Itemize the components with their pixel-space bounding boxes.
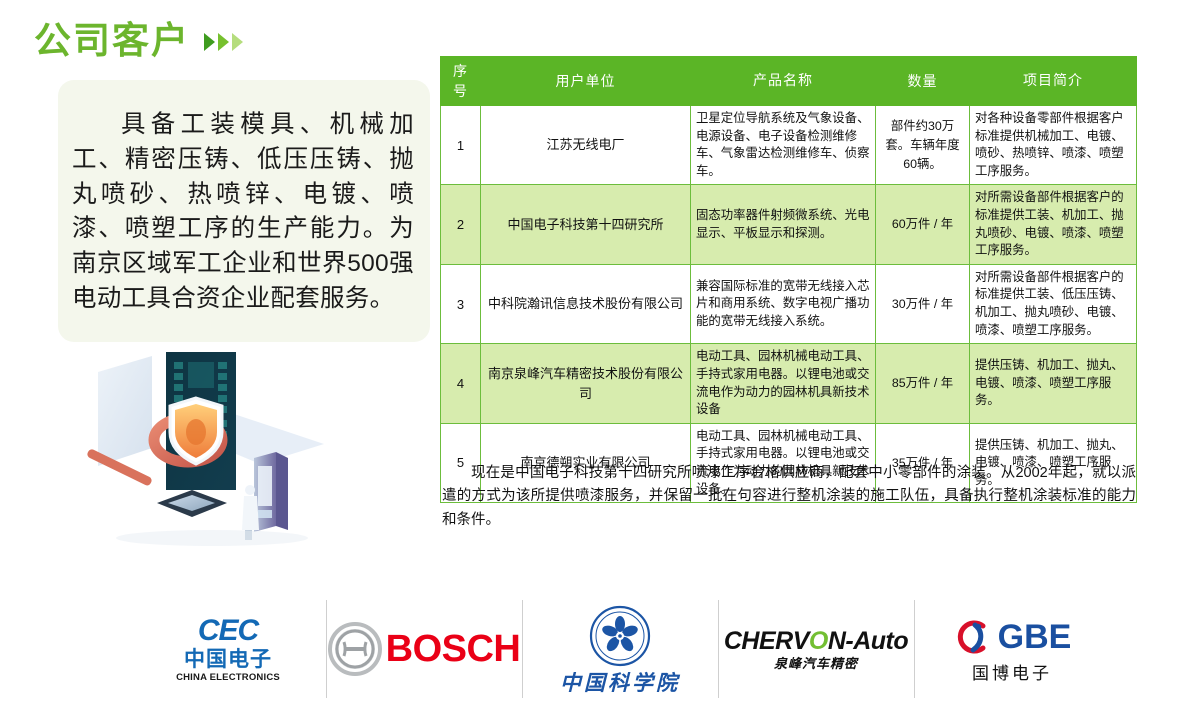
table-row: 3 中科院瀚讯信息技术股份有限公司 兼容国际标准的宽带无线接入芯片和商用系统、数…: [441, 264, 1137, 343]
cec-english-name: CHINA ELECTRONICS: [176, 673, 280, 683]
isometric-security-illustration: [62, 340, 362, 550]
illustration-svg: [62, 340, 362, 550]
partner-logo-strip: CEC 中国电子 CHINA ELECTRONICS BOSCH: [130, 596, 1110, 702]
gbe-swoosh-icon: [953, 617, 993, 657]
cell-no: 1: [441, 106, 481, 185]
title-arrow-group: [204, 33, 243, 51]
logo-gbe: GBE 国博电子: [914, 596, 1110, 702]
cec-chinese-name: 中国电子: [184, 649, 272, 670]
table-header: 序号 用户单位 产品名称 数量 项目简介: [441, 57, 1137, 106]
cell-product: 卫星定位导航系统及气象设备、电源设备、电子设备检测维修车、气象雷达检测维修车、侦…: [691, 106, 876, 185]
page-title-block: 公司客户: [34, 22, 243, 59]
bosch-wordmark: BOSCH: [386, 628, 521, 671]
column-header-unit: 用户单位: [481, 57, 691, 106]
ground-shadow: [116, 530, 308, 546]
cell-qty: 85万件 / 年: [876, 344, 970, 423]
footer-note: 现在是中国电子科技第十四研究所喷漆工序合格供应商，配套中小零部件的涂装。从200…: [442, 462, 1136, 532]
intro-card-text: 具备工装模具、机械加工、精密压铸、低压压铸、抛丸喷砂、热喷锌、电镀、喷漆、喷塑工…: [58, 80, 430, 317]
cell-qty: 60万件 / 年: [876, 185, 970, 264]
cell-unit: 南京泉峰汽车精密技术股份有限公司: [481, 344, 691, 423]
chervon-wordmark-part2: N-Auto: [828, 629, 908, 654]
logo-chervon: CHERVON-Auto 泉峰汽车精密: [718, 596, 914, 702]
table-row: 1 江苏无线电厂 卫星定位导航系统及气象设备、电源设备、电子设备检测维修车、气象…: [441, 106, 1137, 185]
cell-desc: 提供压铸、机加工、抛丸、电镀、喷漆、喷塑工序服务。: [970, 344, 1137, 423]
cell-product: 固态功率器件射频微系统、光电显示、平板显示和探测。: [691, 185, 876, 264]
table-body: 1 江苏无线电厂 卫星定位导航系统及气象设备、电源设备、电子设备检测维修车、气象…: [441, 106, 1137, 503]
column-header-product: 产品名称: [691, 57, 876, 106]
table-row: 2 中国电子科技第十四研究所 固态功率器件射频微系统、光电显示、平板显示和探测。…: [441, 185, 1137, 264]
column-header-desc: 项目简介: [970, 57, 1137, 106]
column-header-qty: 数量: [876, 57, 970, 106]
logo-cec: CEC 中国电子 CHINA ELECTRONICS: [130, 596, 326, 702]
triangle-arrow-icon: [232, 33, 243, 51]
cell-product: 兼容国际标准的宽带无线接入芯片和商用系统、数字电视广播功能的宽带无线接入系统。: [691, 264, 876, 343]
logo-bosch: BOSCH: [326, 596, 522, 702]
intro-card: 具备工装模具、机械加工、精密压铸、低压压铸、抛丸喷砂、热喷锌、电镀、喷漆、喷塑工…: [58, 80, 430, 342]
backdrop-panel-left: [98, 356, 152, 466]
cell-unit: 中国电子科技第十四研究所: [481, 185, 691, 264]
gbe-wordmark: GBE: [998, 620, 1072, 654]
triangle-arrow-icon: [218, 33, 229, 51]
cell-desc: 对所需设备部件根据客户的标准提供工装、机加工、抛丸喷砂、电镀、喷漆、喷塑工序服务…: [970, 185, 1137, 264]
chervon-wordmark-part1: CHERV: [724, 629, 809, 654]
cell-qty: 部件约30万套。车辆年度60辆。: [876, 106, 970, 185]
column-header-no: 序号: [441, 57, 481, 106]
page-title: 公司客户: [34, 22, 190, 59]
cell-unit: 江苏无线电厂: [481, 106, 691, 185]
client-table: 序号 用户单位 产品名称 数量 项目简介 1 江苏无线电厂 卫星定位导航系统及气…: [440, 56, 1137, 503]
cas-chinese-name: 中国科学院: [560, 673, 680, 694]
cell-no: 3: [441, 264, 481, 343]
logo-cas: 中国科学院: [522, 596, 718, 702]
cell-desc: 对各种设备零部件根据客户标准提供机械加工、电镀、喷砂、热喷锌、喷漆、喷塑工序服务…: [970, 106, 1137, 185]
chervon-o-letter: O: [809, 629, 828, 654]
table-row: 4 南京泉峰汽车精密技术股份有限公司 电动工具、园林机械电动工具、手持式家用电器…: [441, 344, 1137, 423]
triangle-arrow-icon: [204, 33, 215, 51]
cell-unit: 中科院瀚讯信息技术股份有限公司: [481, 264, 691, 343]
cell-no: 4: [441, 344, 481, 423]
cell-no: 2: [441, 185, 481, 264]
cas-emblem-icon: [589, 605, 651, 667]
cpu-chip-icon: [157, 490, 227, 517]
gbe-chinese-name: 国博电子: [972, 665, 1052, 682]
cec-wordmark: CEC: [198, 616, 258, 646]
chervon-wordmark: CHERVON-Auto: [724, 629, 908, 654]
server-rack-icon: [254, 452, 288, 532]
table-header-row: 序号 用户单位 产品名称 数量 项目简介: [441, 57, 1137, 106]
bosch-emblem-icon: [328, 622, 382, 676]
slide-root: 公司客户 具备工装模具、机械加工、精密压铸、低压压铸、抛丸喷砂、热喷锌、电镀、喷…: [0, 0, 1200, 712]
cell-product: 电动工具、园林机械电动工具、手持式家用电器。以锂电池或交流电作为动力的园林机具新…: [691, 344, 876, 423]
cell-desc: 对所需设备部件根据客户的标准提供工装、低压压铸、机加工、抛丸喷砂、电镀、喷漆、喷…: [970, 264, 1137, 343]
cell-qty: 30万件 / 年: [876, 264, 970, 343]
chervon-chinese-name: 泉峰汽车精密: [774, 657, 858, 670]
